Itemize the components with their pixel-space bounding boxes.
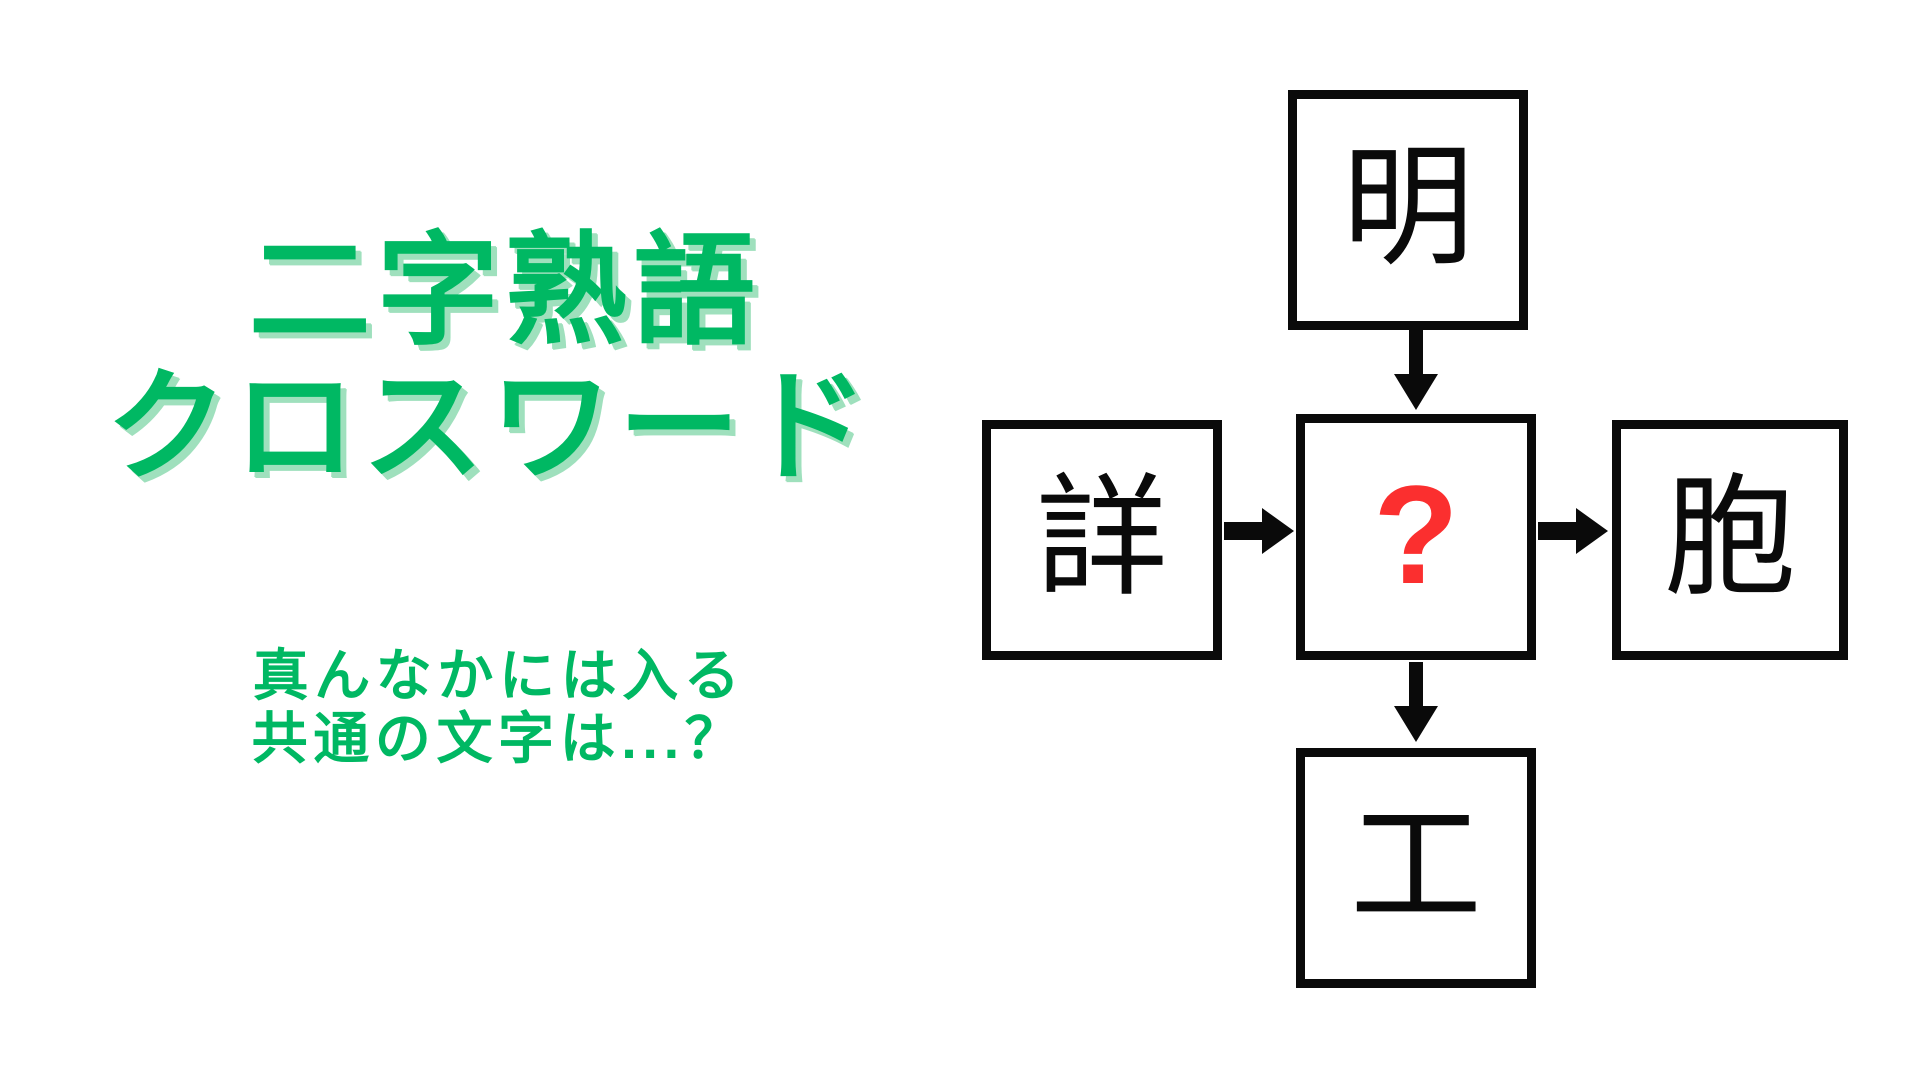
subtitle-block: 真んなかには入る 共通の文字は...？ bbox=[0, 645, 980, 770]
arrow-right-icon bbox=[1224, 506, 1296, 556]
title-line-1: 二字熟語 bbox=[0, 230, 980, 352]
puzzle-cell-center-label: ? bbox=[1373, 465, 1459, 605]
puzzle-cell-right-label: 胞 bbox=[1664, 472, 1796, 604]
puzzle-cell-bottom-label: 工 bbox=[1350, 800, 1482, 932]
puzzle-cell-bottom[interactable]: 工 bbox=[1296, 748, 1536, 988]
slide-canvas: 二字熟語 クロスワード 真んなかには入る 共通の文字は...？ 明 詳 bbox=[0, 0, 1920, 1080]
title-line-2: クロスワード bbox=[0, 366, 980, 488]
subtitle-line-2: 共通の文字は...？ bbox=[0, 708, 980, 771]
arrow-down-icon bbox=[1392, 662, 1440, 746]
subtitle-line-1: 真んなかには入る bbox=[0, 645, 980, 708]
puzzle-cell-top[interactable]: 明 bbox=[1288, 90, 1528, 330]
puzzle-cell-top-label: 明 bbox=[1342, 142, 1474, 274]
arrow-right-icon bbox=[1538, 506, 1610, 556]
puzzle-cell-left[interactable]: 詳 bbox=[982, 420, 1222, 660]
puzzle-cell-right[interactable]: 胞 bbox=[1612, 420, 1848, 660]
crossword-diagram: 明 詳 ? 胞 bbox=[960, 0, 1920, 1080]
puzzle-cell-left-label: 詳 bbox=[1036, 472, 1168, 604]
arrow-down-icon bbox=[1392, 330, 1440, 414]
title-block: 二字熟語 クロスワード bbox=[0, 230, 980, 488]
puzzle-cell-center-answer[interactable]: ? bbox=[1296, 414, 1536, 660]
